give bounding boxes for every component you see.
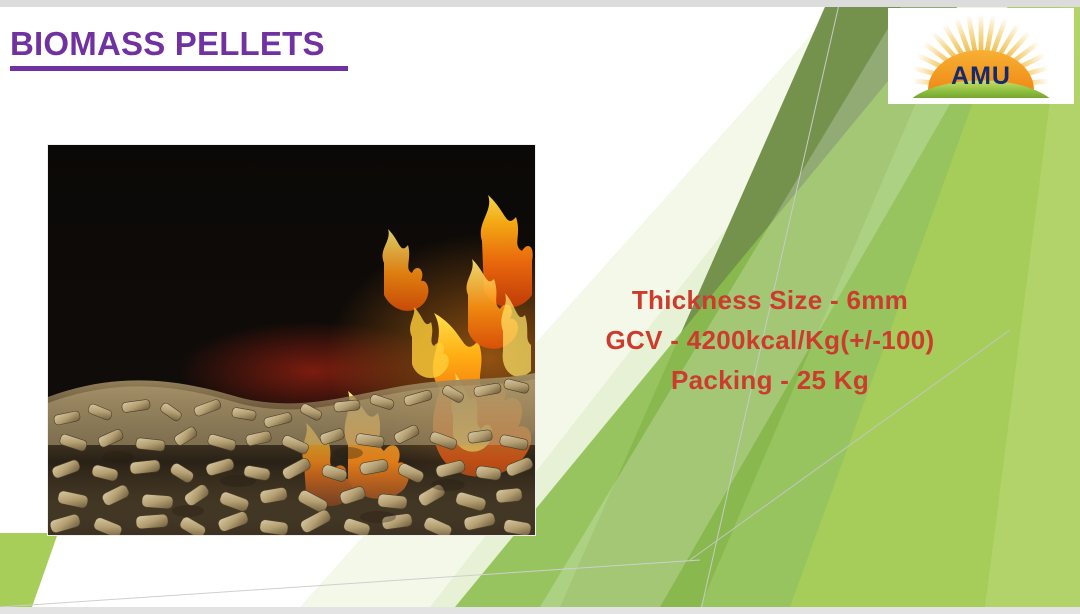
spec-packing: Packing - 25 Kg — [560, 360, 980, 400]
spec-thickness: Thickness Size - 6mm — [560, 280, 980, 320]
product-photo — [48, 145, 535, 535]
presentation-slide: BIOMASS PELLETS — [0, 0, 1080, 614]
page-title-text: BIOMASS PELLETS — [10, 24, 530, 64]
logo-wordmark: AMU — [951, 62, 1011, 90]
amu-sunrise-logo-icon: AMU — [888, 8, 1074, 104]
slide-top-edge — [0, 0, 1080, 7]
slide-bottom-edge — [0, 607, 1080, 614]
deco-hairline-3 — [0, 560, 700, 607]
product-specs: Thickness Size - 6mm GCV - 4200kcal/Kg(+… — [560, 280, 980, 400]
page-title: BIOMASS PELLETS — [10, 24, 530, 71]
spec-gcv: GCV - 4200kcal/Kg(+/-100) — [560, 320, 980, 360]
company-logo: AMU — [888, 8, 1074, 104]
deco-shape-left-sliver — [0, 533, 58, 607]
page-title-underline — [10, 66, 348, 71]
biomass-pellets-fire-image — [48, 145, 535, 535]
